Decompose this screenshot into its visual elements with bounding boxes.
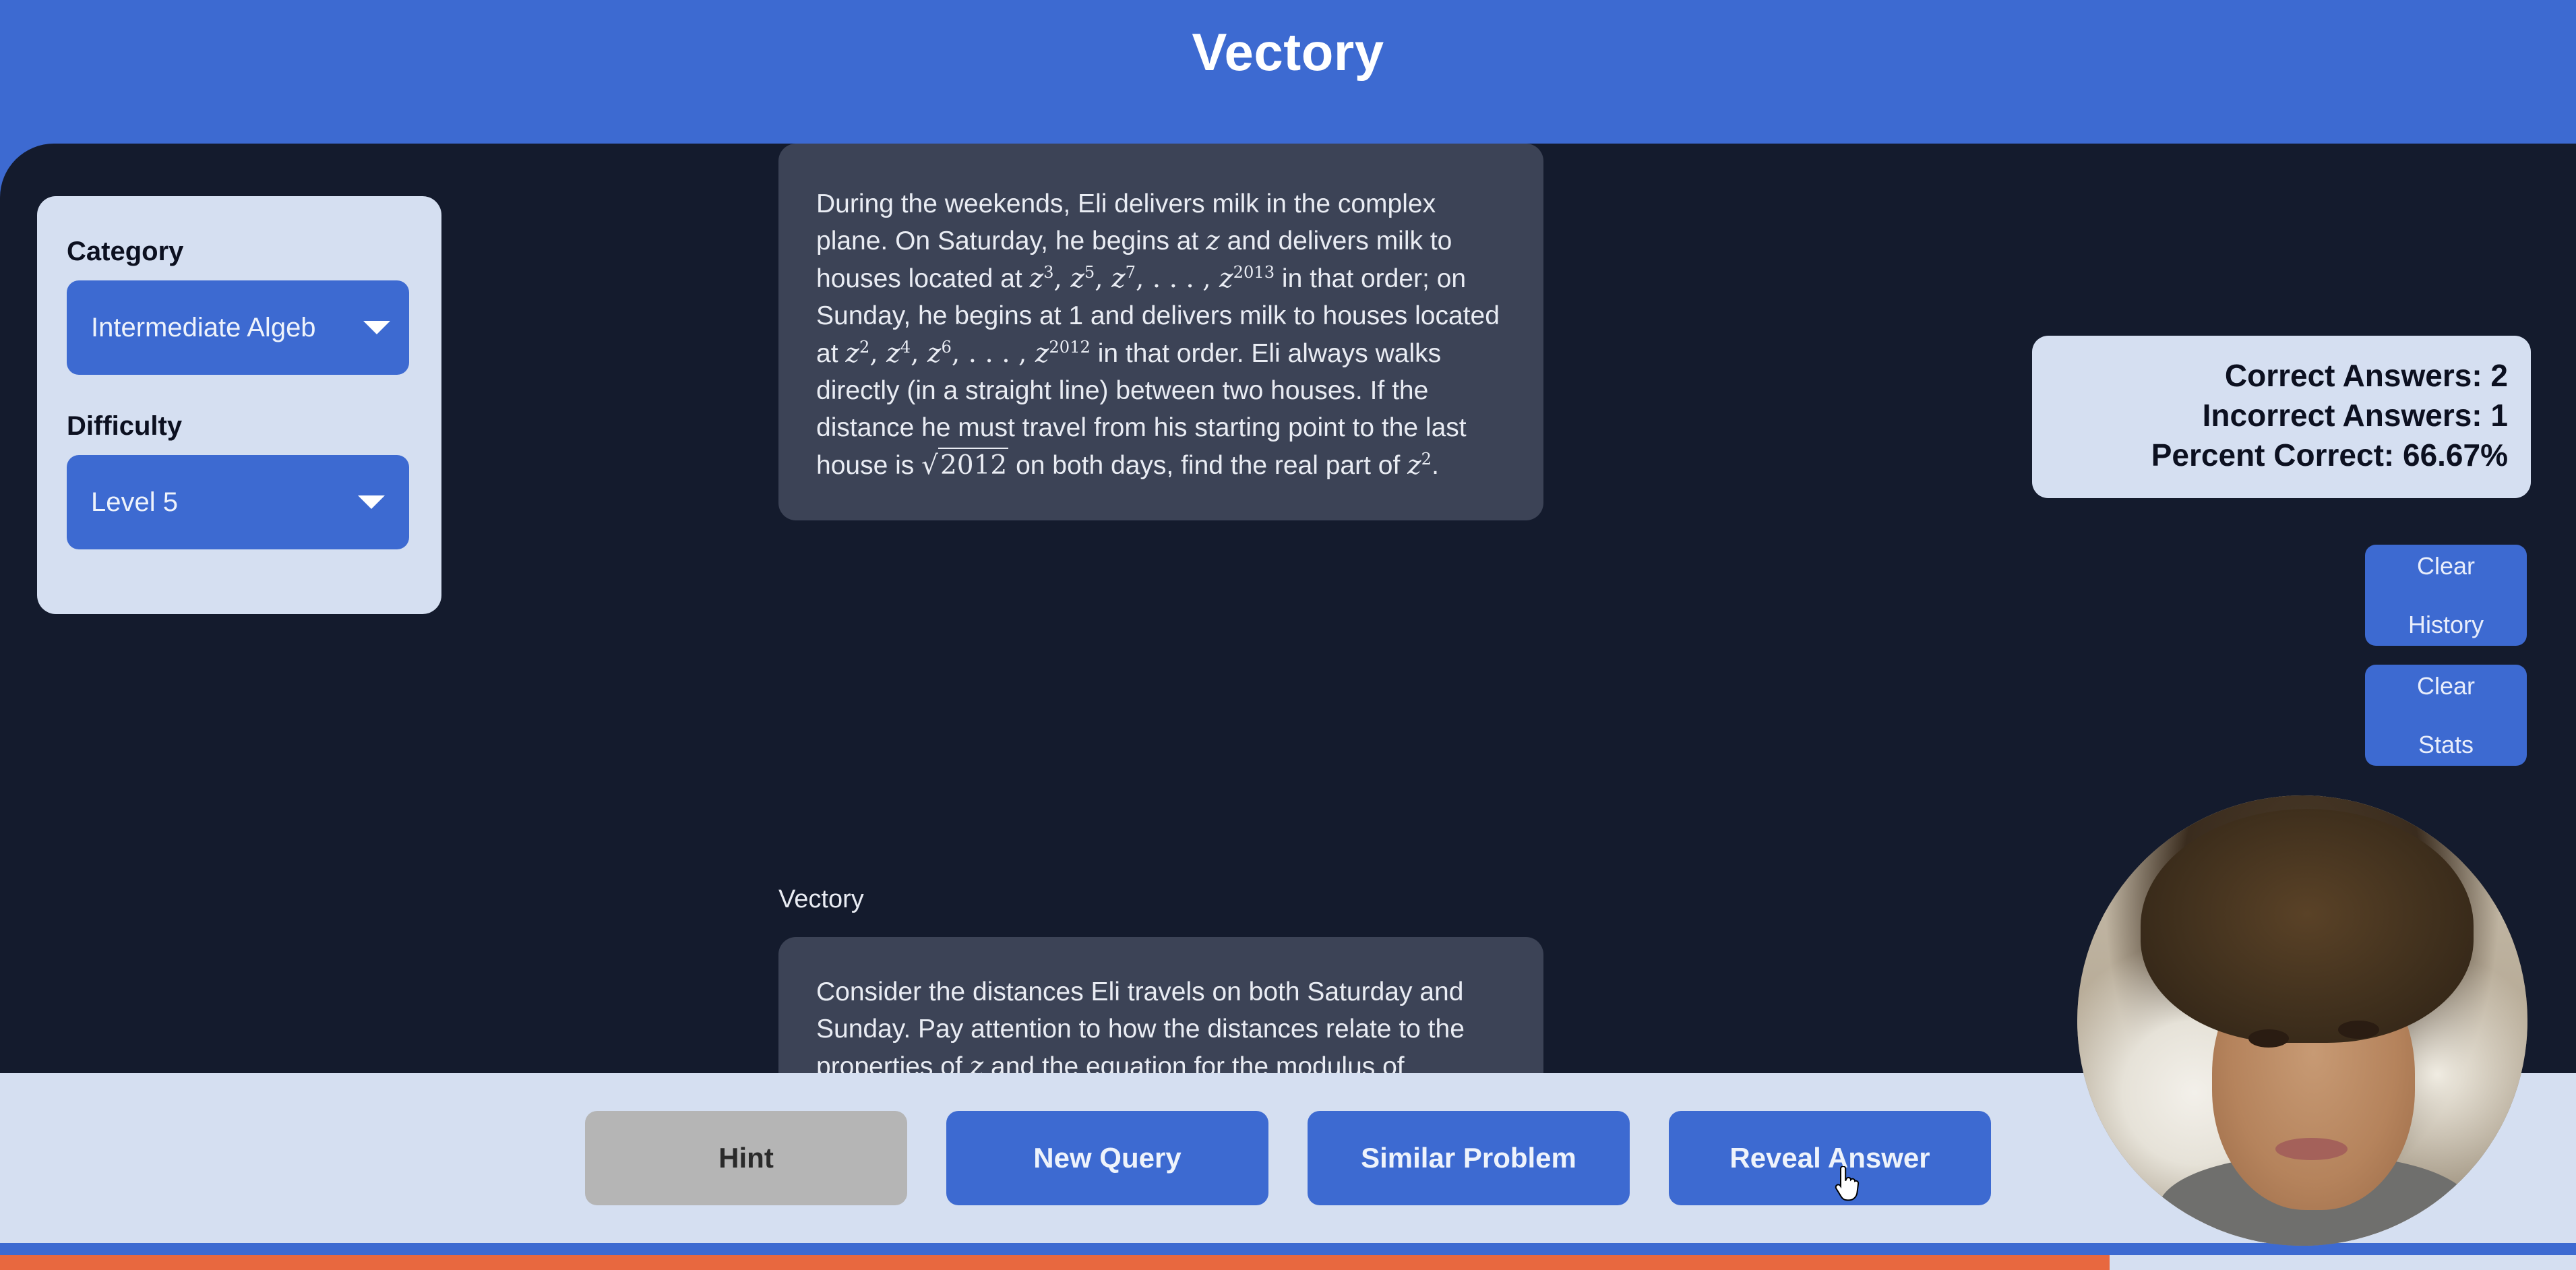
problem-message-bubble: During the weekends, Eli delivers milk i… — [778, 144, 1543, 520]
stats-card: Correct Answers: 2 Incorrect Answers: 1 … — [2032, 336, 2531, 498]
difficulty-select[interactable]: Level 5 — [67, 455, 409, 549]
problem-text-part6: . — [1432, 451, 1439, 480]
webcam-person-eye-left — [2248, 1029, 2289, 1048]
clear-stats-button[interactable]: ClearStats — [2365, 665, 2527, 766]
problem-var-z-squared: z2 — [1407, 450, 1432, 481]
bottom-accent-strip — [0, 1255, 2110, 1270]
category-label: Category — [67, 237, 412, 267]
webcam-person-hair — [2141, 809, 2474, 1043]
problem-var-z: z — [1206, 226, 1220, 256]
bottom-accent-remainder — [2110, 1255, 2576, 1270]
app-header: Vectory — [0, 0, 2576, 144]
stat-correct-answers: Correct Answers: 2 — [2055, 356, 2508, 396]
settings-card: Category Intermediate Algeb Difficulty L… — [37, 196, 441, 614]
hint-button[interactable]: Hint — [585, 1111, 907, 1205]
clear-stats-line1: Clear — [2417, 671, 2475, 700]
category-select-value: Intermediate Algeb — [91, 313, 381, 343]
assistant-var-z: z — [970, 1052, 984, 1073]
new-query-button[interactable]: New Query — [946, 1111, 1268, 1205]
clear-history-button[interactable]: ClearHistory — [2365, 545, 2527, 646]
chevron-down-icon — [363, 321, 390, 334]
problem-sequence-even: z2, z4, z6, . . . , z2012 — [845, 338, 1091, 369]
problem-text-part5: on both days, find the real part of — [1008, 451, 1407, 480]
page-title: Vectory — [1192, 22, 1384, 83]
clear-stats-line2: Stats — [2417, 730, 2475, 759]
side-button-group: ClearHistory ClearStats — [2365, 545, 2527, 785]
category-select[interactable]: Intermediate Algeb — [67, 280, 409, 375]
stat-incorrect-answers: Incorrect Answers: 1 — [2055, 396, 2508, 435]
similar-problem-button[interactable]: Similar Problem — [1308, 1111, 1630, 1205]
webcam-video-overlay[interactable] — [2077, 795, 2527, 1246]
problem-sqrt-2012: √2012 — [921, 447, 1008, 484]
clear-history-line1: Clear — [2408, 551, 2484, 580]
assistant-text: Consider the distances Eli travels on bo… — [816, 973, 1506, 1073]
difficulty-label: Difficulty — [67, 411, 412, 442]
problem-text: During the weekends, Eli delivers milk i… — [816, 185, 1506, 484]
clear-history-line2: History — [2408, 610, 2484, 639]
difficulty-select-value: Level 5 — [91, 487, 178, 518]
webcam-person-mouth — [2275, 1138, 2348, 1160]
problem-sequence-odd: z3, z5, z7, . . . , z2013 — [1030, 264, 1275, 294]
reveal-answer-button[interactable]: Reveal Answer — [1669, 1111, 1991, 1205]
chevron-down-icon — [358, 495, 385, 509]
assistant-name-label: Vectory — [778, 885, 864, 914]
webcam-person-eye-right — [2338, 1021, 2379, 1039]
assistant-message-bubble: Consider the distances Eli travels on bo… — [778, 937, 1543, 1073]
stat-percent-correct: Percent Correct: 66.67% — [2055, 435, 2508, 475]
